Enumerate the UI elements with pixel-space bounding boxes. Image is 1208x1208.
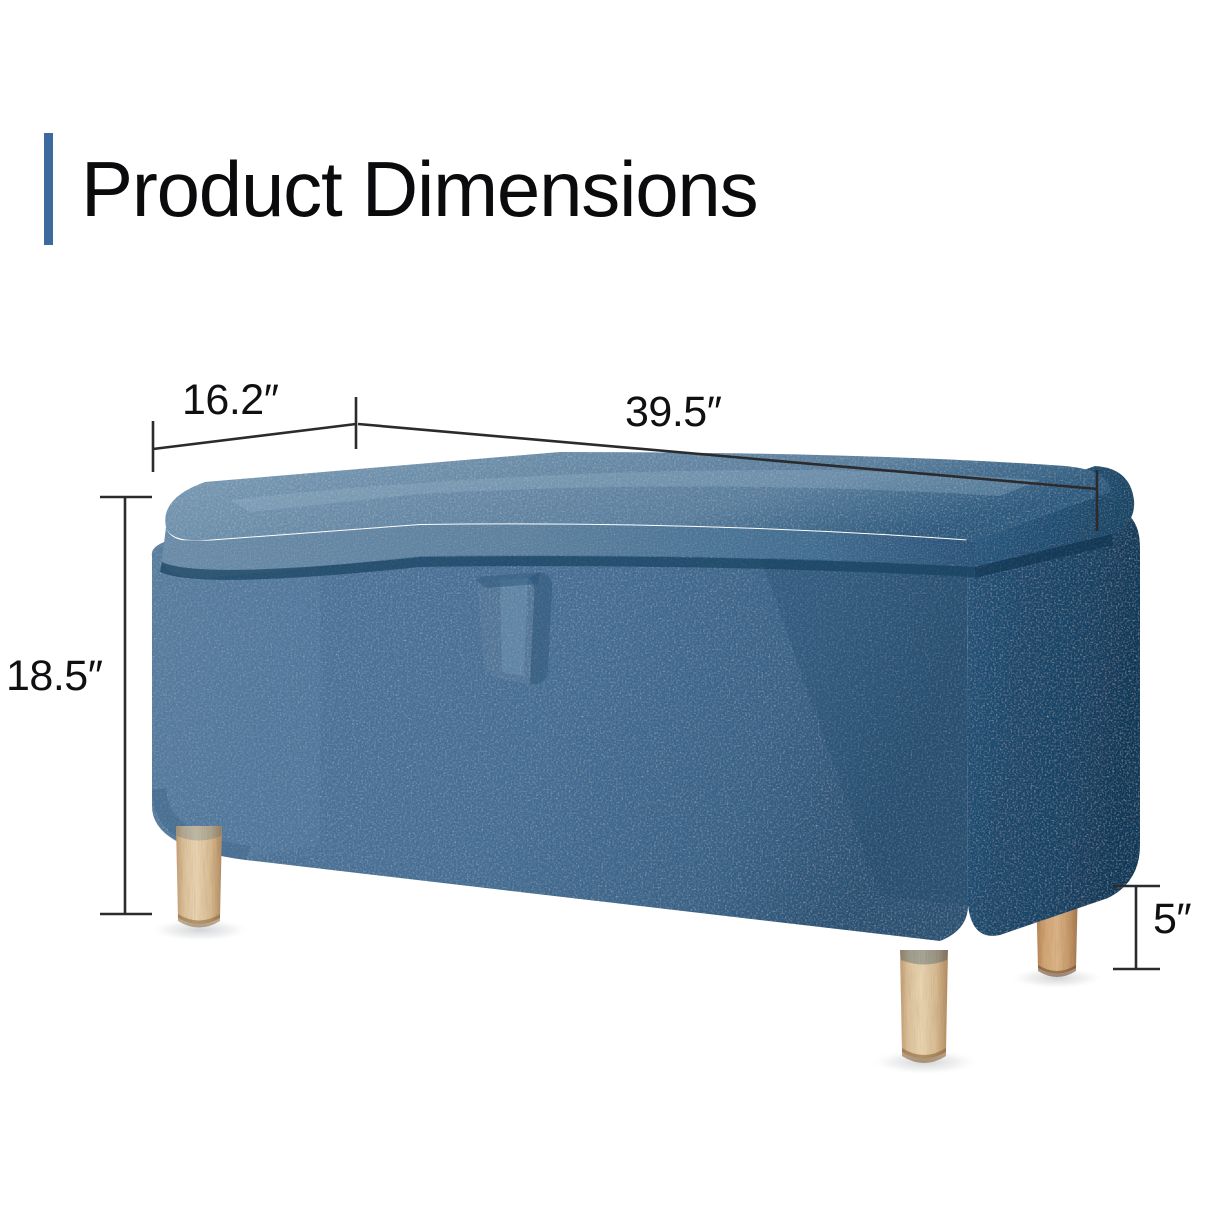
leg-front-left <box>176 826 222 928</box>
leg-front-right <box>900 950 948 1063</box>
product-illustration <box>0 0 1208 1208</box>
body-front-panel <box>152 540 968 941</box>
product-dimensions-infographic: Product Dimensions <box>0 0 1208 1208</box>
pull-tab-handle <box>476 572 552 684</box>
